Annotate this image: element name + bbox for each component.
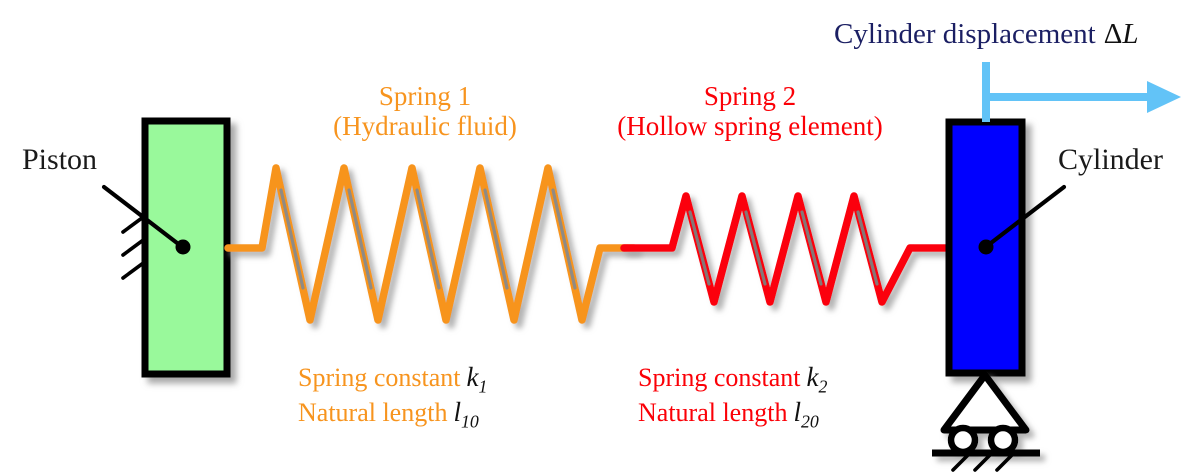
ground-hatching <box>953 455 1012 470</box>
spring-2-title: Spring 2 (Hollow spring element) <box>570 81 930 141</box>
spring-1-title-line2: (Hydraulic fluid) <box>295 111 555 141</box>
spring-1-title-line1: Spring 1 <box>295 81 555 111</box>
cylinder-roller-support <box>932 375 1040 453</box>
spring-1-constant-symbol: k1 <box>461 362 488 392</box>
spring-2-constant-row: Spring constantk2 <box>638 362 827 397</box>
l10-base: l <box>453 397 461 427</box>
diagram-canvas <box>0 0 1200 473</box>
spring-1-length-row: Natural lengthl10 <box>298 397 487 432</box>
piston-label: Piston <box>22 143 97 177</box>
l20-subscript: 20 <box>801 412 819 432</box>
spring-2-properties: Spring constantk2 Natural lengthl20 <box>638 362 827 433</box>
spring-1-title: Spring 1 (Hydraulic fluid) <box>295 81 555 141</box>
k2-base: k <box>807 362 819 392</box>
length-variable-glyph: L <box>1122 18 1138 50</box>
delta-glyph: Δ <box>1104 18 1123 50</box>
k1-subscript: 1 <box>478 376 487 396</box>
cylinder-displacement-label: Cylinder displacementΔL <box>834 18 1139 50</box>
spring-2-length-label: Natural length <box>638 398 787 427</box>
spring-1-properties: Spring constantk1 Natural lengthl10 <box>298 362 487 433</box>
spring-1-length-symbol: l10 <box>447 397 478 427</box>
spring-2-length-row: Natural lengthl20 <box>638 397 827 432</box>
spring-1-constant-row: Spring constantk1 <box>298 362 487 397</box>
spring-1-length-label: Natural length <box>298 398 447 427</box>
cylinder-displacement-text: Cylinder displacement <box>834 18 1096 50</box>
spring-1-hydraulic-fluid <box>228 168 634 320</box>
spring-2-constant-symbol: k2 <box>801 362 828 392</box>
spring-2-hollow-spring-element <box>624 196 948 302</box>
k1-base: k <box>467 362 479 392</box>
spring-2-length-symbol: l20 <box>787 397 818 427</box>
spring-1-constant-label: Spring constant <box>298 363 461 392</box>
spring-2-title-line2: (Hollow spring element) <box>570 111 930 141</box>
spring-2-constant-label: Spring constant <box>638 363 801 392</box>
spring-2-title-line1: Spring 2 <box>570 81 930 111</box>
l20-base: l <box>793 397 801 427</box>
delta-L-symbol: ΔL <box>1096 18 1139 50</box>
k2-subscript: 2 <box>818 376 827 396</box>
l10-subscript: 10 <box>461 412 479 432</box>
cylinder-label: Cylinder <box>1058 143 1163 177</box>
cylinder-displacement-arrow <box>986 62 1181 122</box>
mechanical-diagram: Piston Cylinder Cylinder displacementΔL … <box>0 0 1200 473</box>
